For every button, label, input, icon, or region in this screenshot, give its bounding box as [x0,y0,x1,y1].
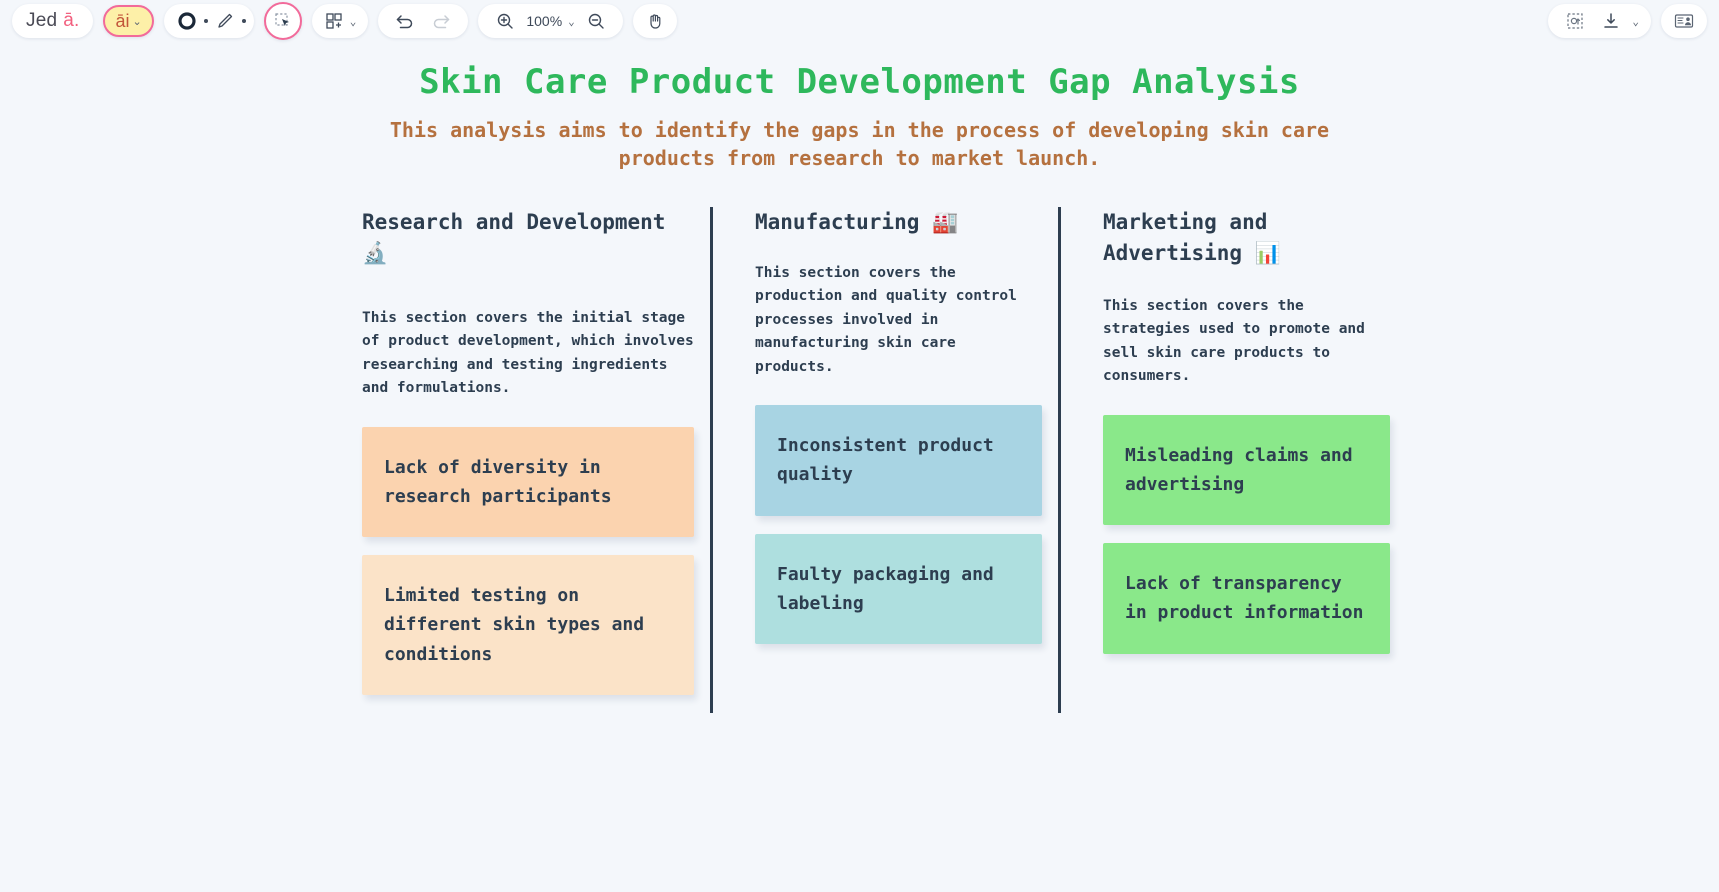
zoom-out-icon[interactable] [581,6,611,36]
chevron-down-icon[interactable]: ⌄ [1632,15,1639,28]
chevron-down-icon: ⌄ [133,15,142,28]
column-description: This section covers the production and q… [755,262,1042,379]
factory-icon: 🏭 [932,210,958,234]
column-marketing-and-advertising: Marketing and Advertising 📊 This section… [1058,207,1406,713]
select-cursor-icon[interactable] [264,2,302,40]
column-heading: Manufacturing 🏭 [755,207,1042,238]
circle-shape-icon[interactable] [172,6,202,36]
zoom-in-icon[interactable] [490,6,520,36]
undo-icon[interactable] [390,6,420,36]
app-logo[interactable]: Jedā. [12,4,93,38]
gap-card[interactable]: Limited testing on different skin types … [362,555,694,694]
chevron-down-icon[interactable]: ⌄ [568,15,575,28]
pan-hand-icon[interactable] [633,4,677,38]
column-description: This section covers the initial stage of… [362,307,694,401]
column-research-and-development: Research and Development 🔬 This section … [362,207,710,713]
download-icon[interactable] [1596,6,1626,36]
gap-card[interactable]: Faulty packaging and labeling [755,534,1042,644]
pen-dot-indicator [242,19,246,23]
column-heading: Research and Development 🔬 [362,207,694,269]
column-heading-text: Research and Development [362,210,665,234]
column-description: This section covers the strategies used … [1103,295,1390,389]
zoom-group: 100% ⌄ [478,4,622,38]
chevron-down-icon: ⌄ [350,15,357,28]
draw-tools-group [164,4,254,38]
page-subtitle: This analysis aims to identify the gaps … [380,116,1340,173]
pen-icon[interactable] [210,6,240,36]
export-group: ⌄ [1548,4,1651,38]
gap-card[interactable]: Lack of transparency in product informat… [1103,543,1390,653]
column-heading-text: Marketing and Advertising [1103,210,1267,265]
present-icon[interactable] [1661,4,1707,38]
gap-card[interactable]: Misleading claims and advertising [1103,415,1390,525]
snapshot-upload-icon[interactable] [1560,6,1590,36]
redo-icon[interactable] [426,6,456,36]
column-manufacturing: Manufacturing 🏭 This section covers the … [710,207,1058,713]
add-frame-button[interactable]: ⌄ [312,4,369,38]
gap-card[interactable]: Lack of diversity in research participan… [362,427,694,537]
microscope-icon: 🔬 [362,241,388,265]
top-toolbar: Jedā. āi ⌄ ⌄ [0,0,1719,42]
logo-accent: ā. [63,10,79,32]
tool-dot-indicator [204,19,208,23]
columns-container: Research and Development 🔬 This section … [0,207,1719,713]
document-canvas[interactable]: Skin Care Product Development Gap Analys… [0,42,1719,892]
column-heading-text: Manufacturing [755,210,919,234]
gap-card[interactable]: Inconsistent product quality [755,405,1042,515]
bar-chart-icon: 📊 [1255,241,1281,265]
zoom-level-label[interactable]: 100% [526,13,562,29]
history-group [378,4,468,38]
ai-button[interactable]: āi ⌄ [103,5,153,37]
page-title: Skin Care Product Development Gap Analys… [0,62,1719,102]
logo-text: Jed [26,10,57,32]
ai-label: āi [115,11,129,32]
column-heading: Marketing and Advertising 📊 [1103,207,1390,269]
